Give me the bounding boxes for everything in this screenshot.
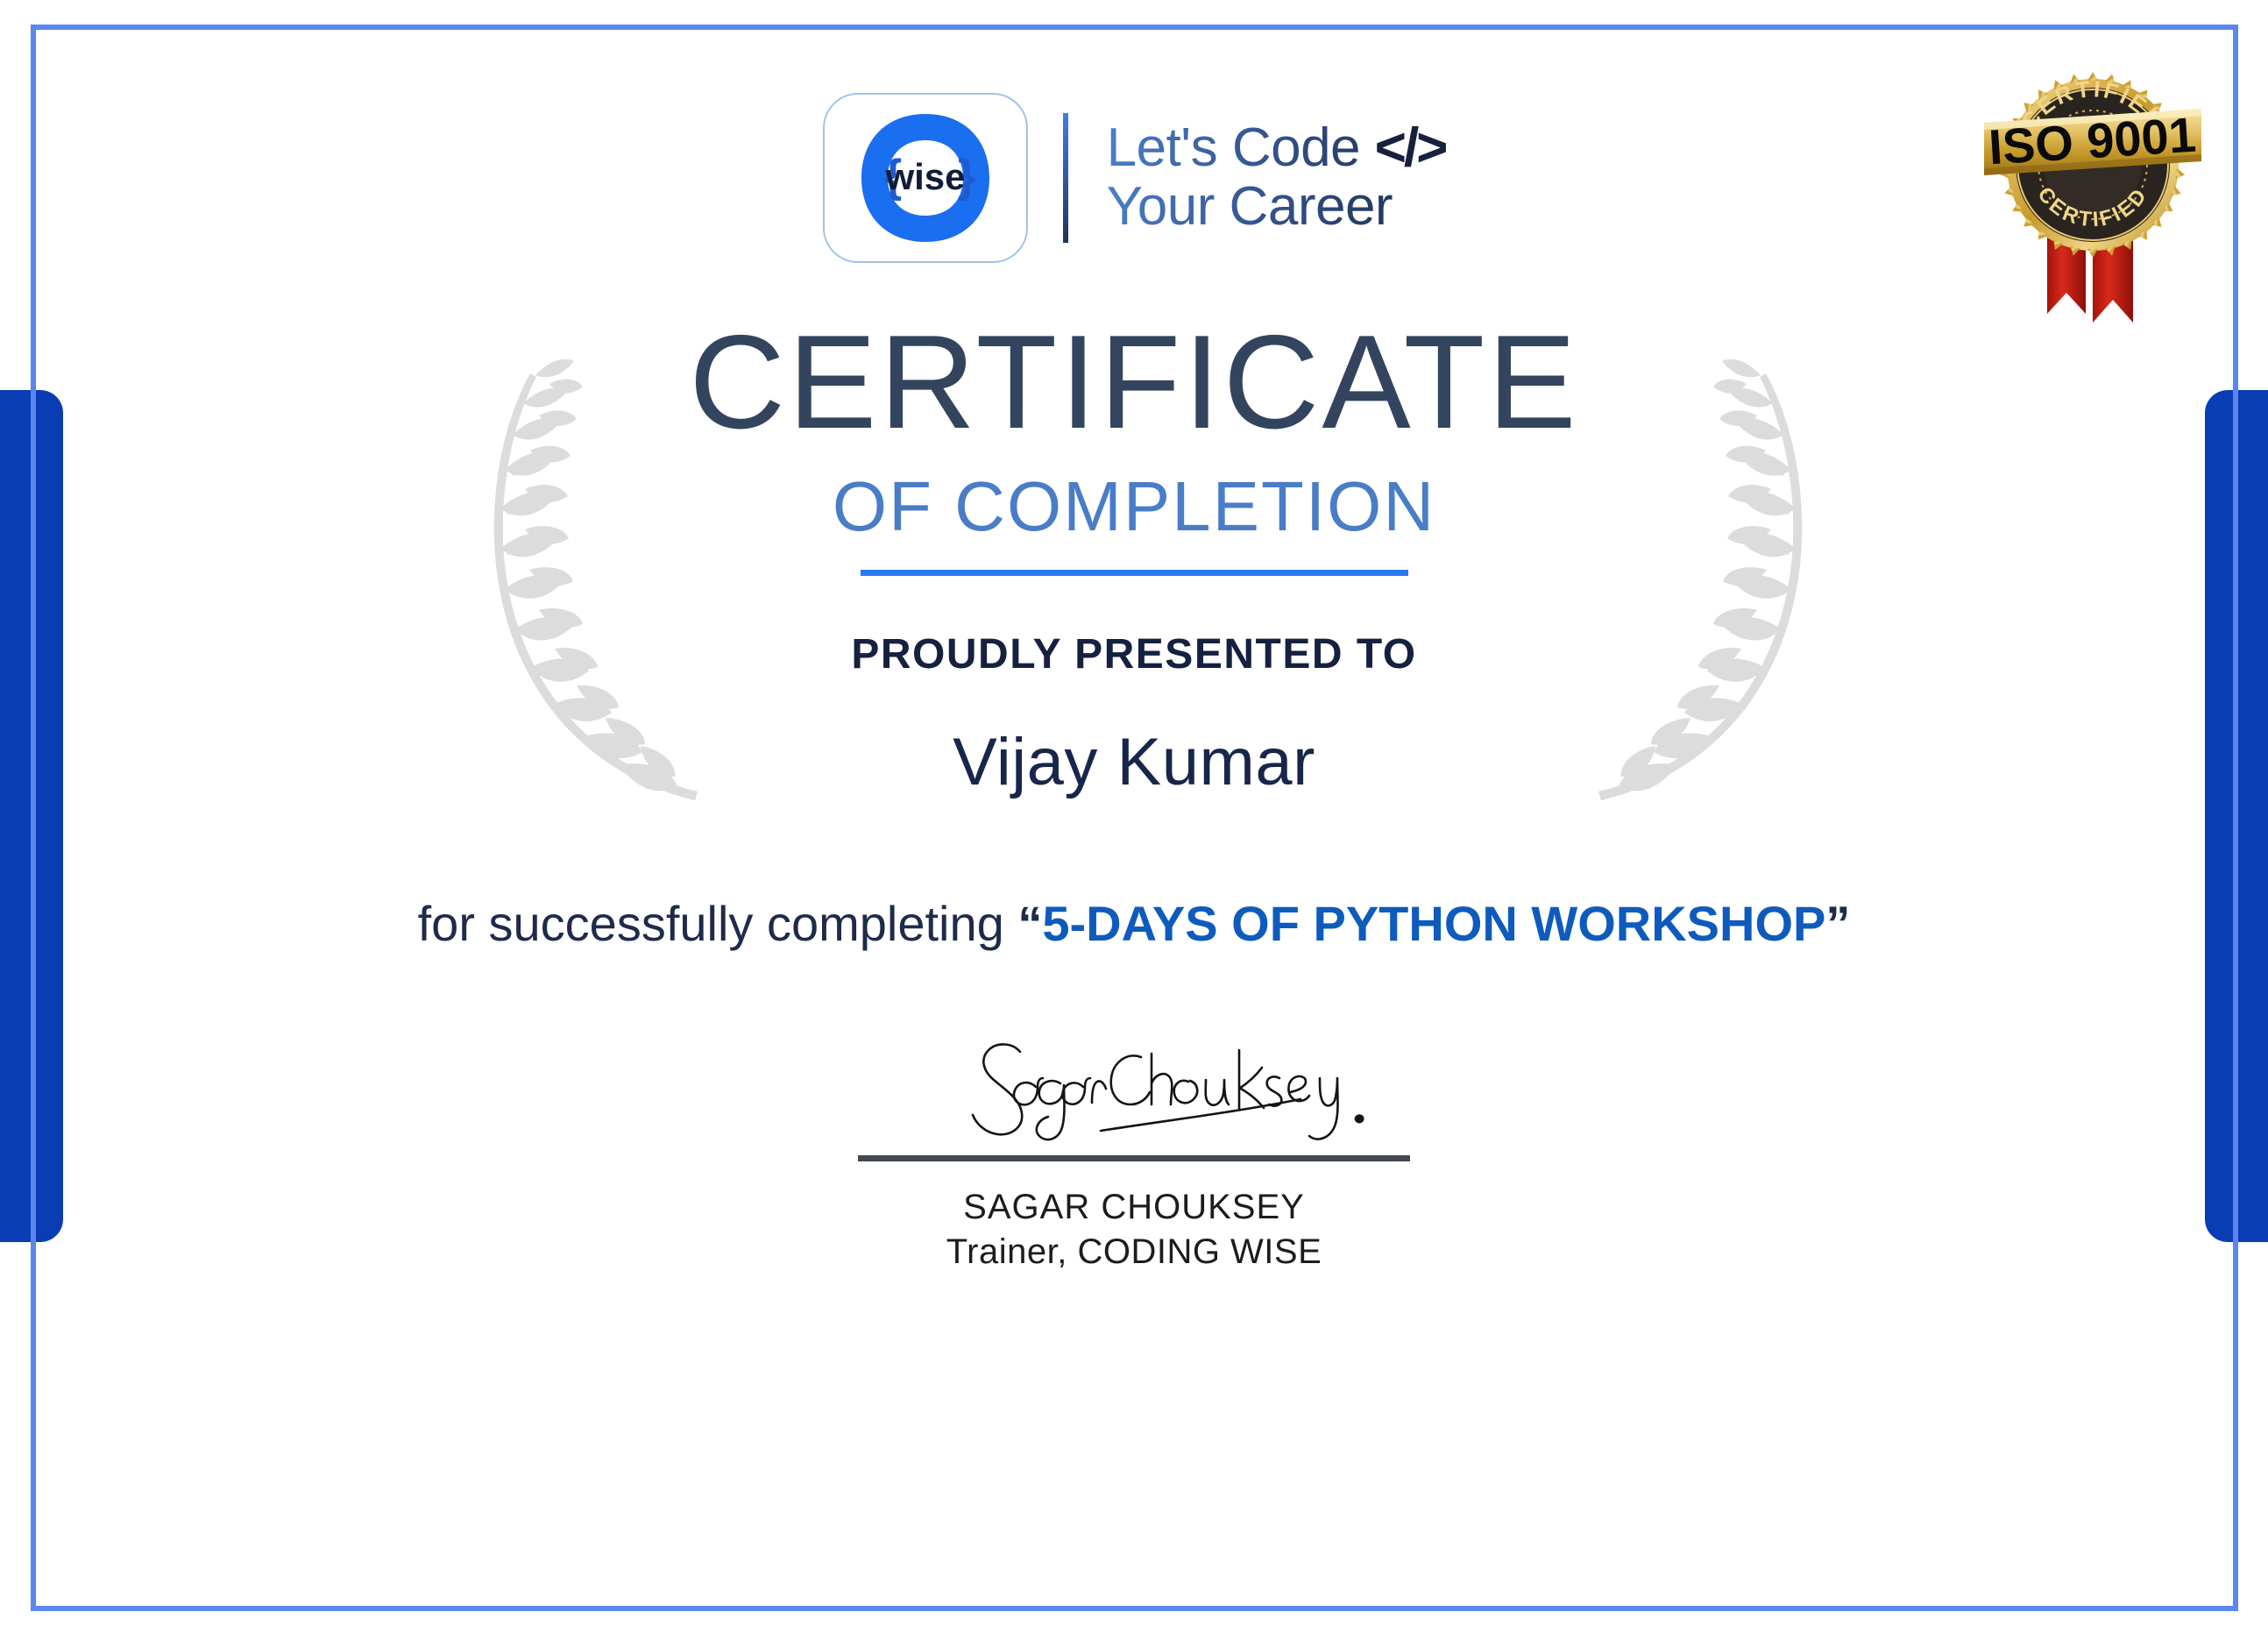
codingwise-logo-icon: { } wise: [823, 93, 1028, 263]
code-brackets-icon: </>: [1375, 117, 1446, 178]
course-name: 5-DAYS OF PYTHON WORKSHOP: [1042, 896, 1825, 951]
certificate-title: CERTIFICATE: [689, 316, 1578, 449]
iso-9001-certified-badge-icon: CERTIFIED CERTIFIED ISO 9001: [1970, 25, 2215, 340]
certificate-page: CERTIFIED CERTIFIED ISO 9001 {: [0, 0, 2268, 1633]
signer-role: Trainer, CODING WISE: [946, 1232, 1322, 1272]
tagline-line-1-text: Let's Code: [1107, 117, 1360, 178]
presented-to-label: PROUDLY PRESENTED TO: [851, 630, 1416, 678]
brand-header: { } wise Let's Code </> Your Career: [823, 103, 1446, 252]
tagline-line-1: Let's Code </>: [1107, 119, 1446, 178]
brand-tagline: Let's Code </> Your Career: [1107, 119, 1446, 237]
tagline-line-2: Your Career: [1107, 178, 1446, 237]
open-quote: “: [1017, 896, 1042, 951]
handwritten-signature-icon: [889, 1036, 1379, 1150]
signature-block: SAGAR CHOUKSEY Trainer, CODING WISE: [858, 1036, 1410, 1272]
signature-line: [858, 1155, 1410, 1161]
completion-reason-line: for successfully completing “5-DAYS OF P…: [418, 895, 1851, 952]
title-divider-rule: [861, 570, 1408, 576]
brand-divider: [1063, 113, 1068, 243]
svg-text:wise: wise: [884, 156, 965, 197]
close-quote: ”: [1825, 896, 1850, 951]
recipient-name: Vijay Kumar: [953, 724, 1315, 800]
signer-name: SAGAR CHOUKSEY: [963, 1188, 1305, 1227]
completion-reason-prefix: for successfully completing: [418, 896, 1018, 951]
certificate-subtitle: OF COMPLETION: [833, 472, 1435, 542]
